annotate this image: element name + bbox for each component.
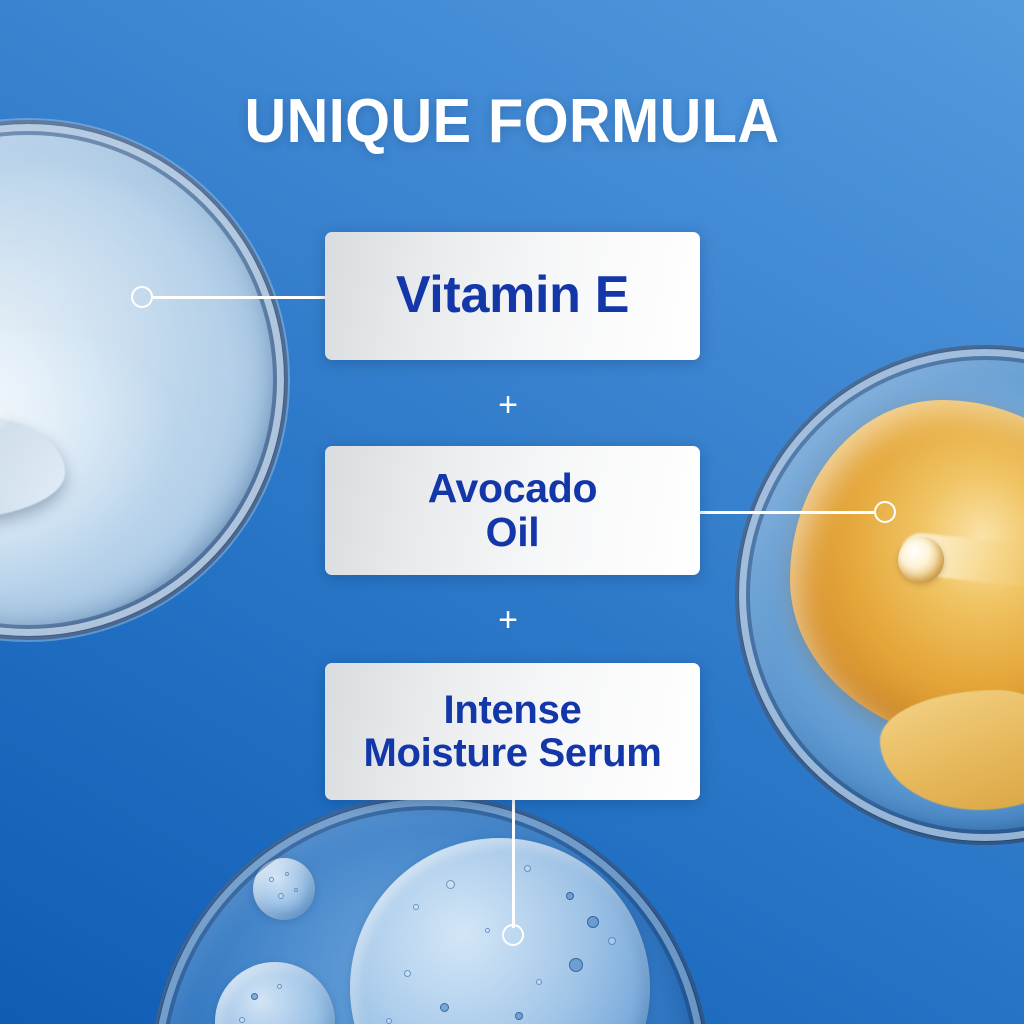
plus-separator-1: + [494,391,522,419]
connector-line-vitamin-e [152,296,327,299]
petri-dish-bottom-rim [150,795,710,1024]
connector-line-intense-moisture-serum [512,800,515,928]
ingredient-card-vitamin-e[interactable]: Vitamin E [325,232,700,360]
ingredient-card-avocado-oil[interactable]: Avocado Oil [325,446,700,575]
infographic-canvas: UNIQUE FORMULA Vitamin E + Avocado Oil +… [0,0,1024,1024]
connector-dot-intense-moisture-serum [502,924,524,946]
ingredient-label-avocado-oil: Avocado Oil [428,467,598,554]
ingredient-card-intense-moisture-serum[interactable]: Intense Moisture Serum [325,663,700,800]
connector-dot-avocado-oil [874,501,896,523]
connector-dot-vitamin-e [131,286,153,308]
connector-line-avocado-oil [700,511,875,514]
page-title: UNIQUE FORMULA [36,86,988,157]
plus-separator-2: + [494,606,522,634]
petri-dish-left-rim [0,120,288,640]
petri-dish-right-rim [735,345,1024,845]
ingredient-label-intense-moisture-serum: Intense Moisture Serum [363,689,661,774]
ingredient-label-vitamin-e: Vitamin E [396,268,629,323]
